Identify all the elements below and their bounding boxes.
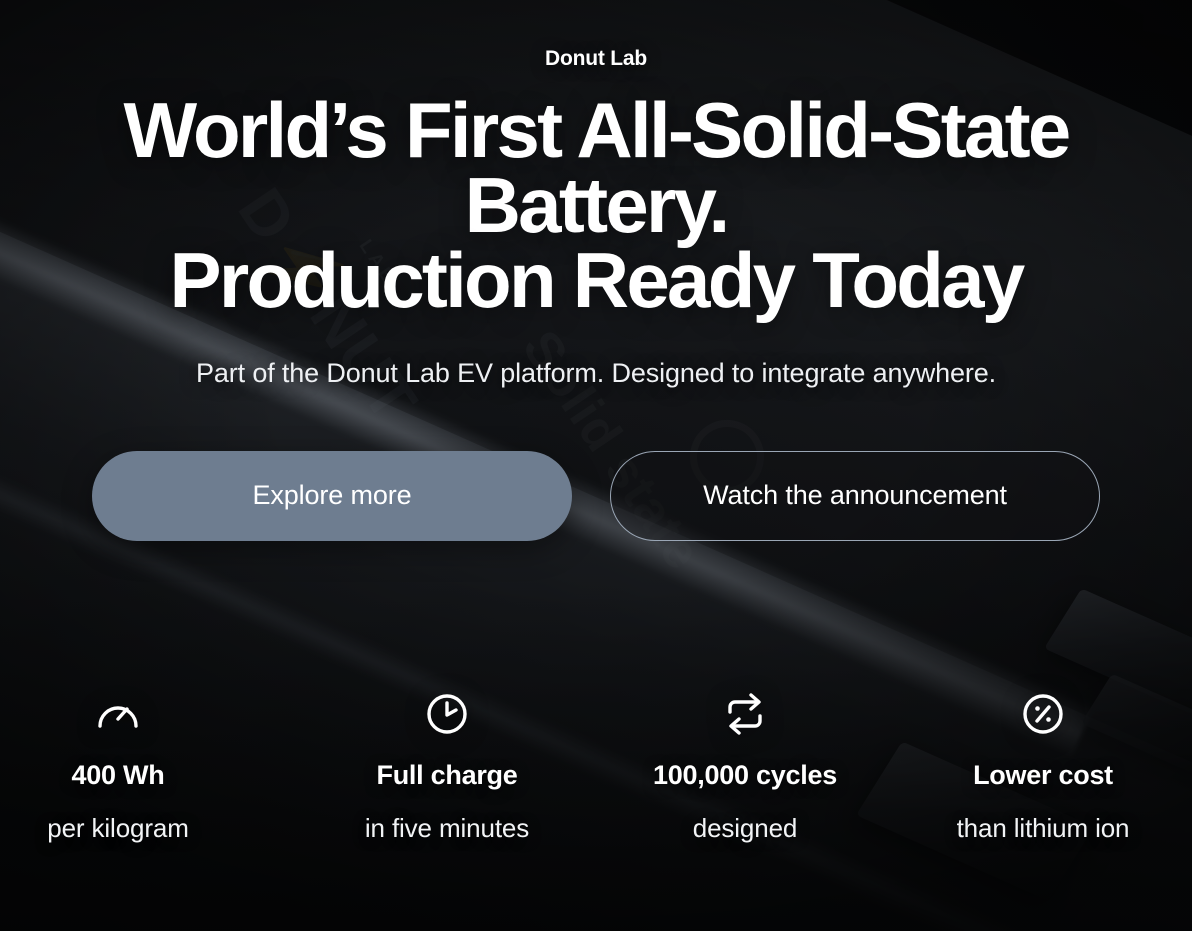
hero-content: Donut Lab World’s First All-Solid-State … <box>0 0 1192 931</box>
headline-line-3: Production Ready Today <box>0 243 1192 318</box>
watch-announcement-button[interactable]: Watch the announcement <box>610 451 1100 541</box>
brand-eyebrow: Donut Lab <box>545 47 647 71</box>
page-title: World’s First All-Solid-State Battery. P… <box>0 93 1192 318</box>
hero-subtitle: Part of the Donut Lab EV platform. Desig… <box>196 358 996 389</box>
headline-line-1: World’s First All-Solid-State <box>0 93 1192 168</box>
hero-section: D⚡NUT LAB Solid state Donut Lab World’s … <box>0 0 1192 931</box>
headline-line-2: Battery. <box>0 168 1192 243</box>
explore-more-button[interactable]: Explore more <box>92 451 572 541</box>
cta-button-row: Explore more Watch the announcement <box>92 451 1100 541</box>
